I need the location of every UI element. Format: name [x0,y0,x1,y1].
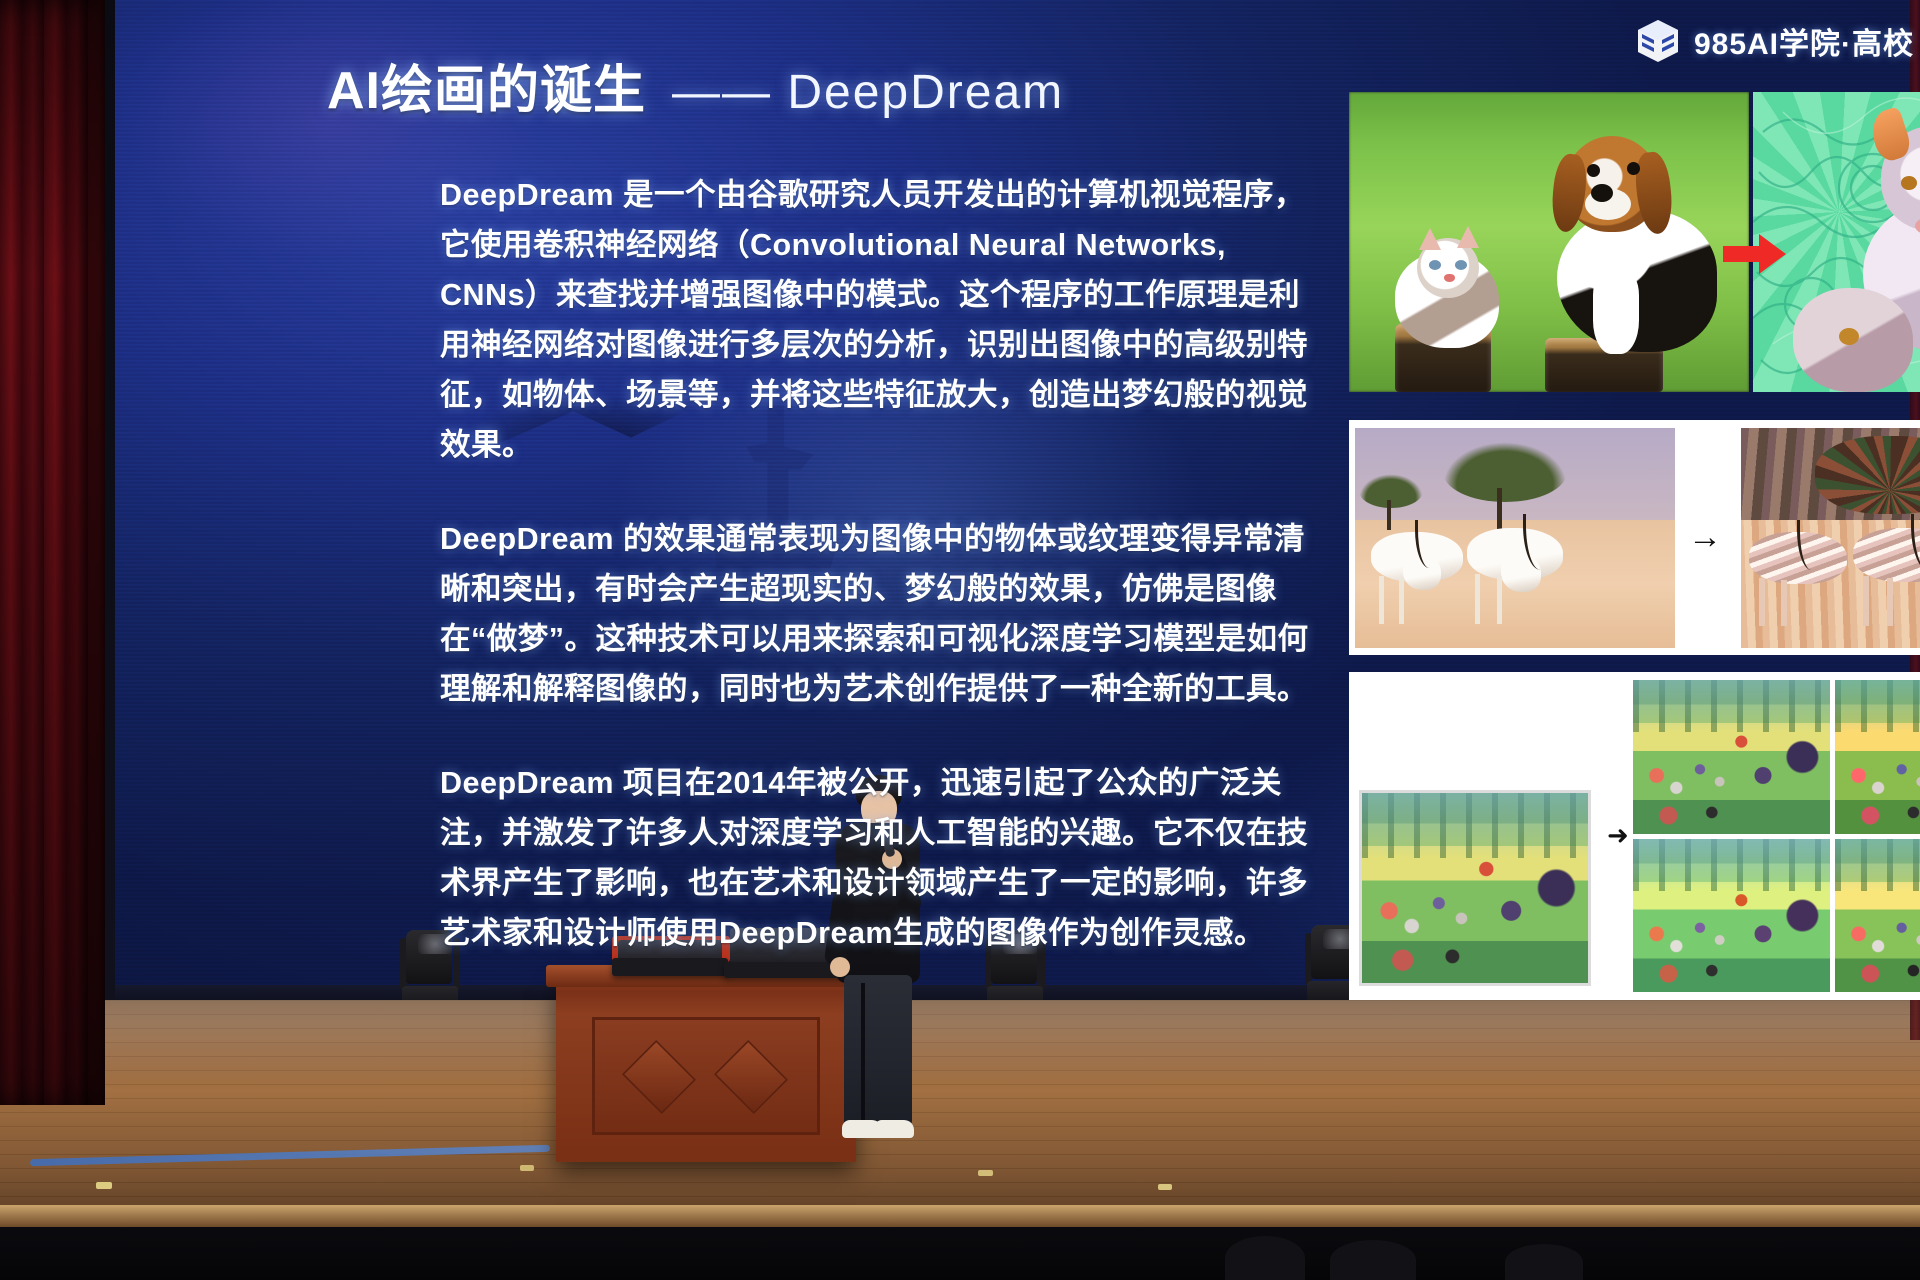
audience-head-1 [1225,1236,1305,1280]
brand-logo: 985AI学院·高校 [1636,18,1914,64]
dream-addax-leg-b [1781,580,1787,626]
confetti-4 [1158,1184,1172,1190]
seurat-variation-2 [1835,680,1920,834]
slide-body: DeepDream 是一个由谷歌研究人员开发出的计算机视觉程序，它使用卷积神经网… [440,170,1330,1000]
dream-dog-eye-left [1901,176,1917,190]
example-row-pets [1349,92,1920,392]
confetti-2 [520,1165,534,1171]
dream-acacia-canopy [1815,436,1920,514]
addax-leg-a [1379,576,1384,624]
seurat-source-painting [1359,790,1591,986]
brand-logo-text: 985AI学院·高校 [1694,19,1914,63]
beagle-eye-left [1587,164,1600,177]
podium-diamond-right [714,1040,788,1114]
presenter-leg-gap [861,983,865,1121]
dream-addax-leg-c [1863,576,1869,626]
cube-logo-icon [1636,18,1680,64]
slide-title-cn: AI绘画的诞生 [327,48,646,123]
dream-addax-leg-d [1887,578,1893,626]
antelope-deepdream-photo [1741,428,1920,648]
slide-paragraph-3: DeepDream 项目在2014年被公开，迅速引起了公众的广泛关注，并激发了许… [440,758,1330,958]
confetti-3 [978,1170,993,1176]
acacia-tree-small-trunk [1387,500,1391,530]
example-row-antelopes: → [1349,420,1920,655]
kitten-eye-left [1429,260,1441,270]
slide-paragraph-2: DeepDream 的效果通常表现为图像中的物体或纹理变得异常清晰和突出，有时会… [440,514,1330,714]
seurat-variation-3 [1633,839,1830,993]
audience-pit [0,1227,1920,1280]
audience-head-3 [1505,1244,1583,1280]
addax-leg-c [1475,574,1480,624]
acacia-tree-trunk [1497,488,1502,530]
led-presentation-screen: 985AI学院·高校 AI绘画的诞生 —— DeepDream DeepDrea… [115,0,1920,1000]
seurat-deepdream-grid [1633,680,1920,992]
example-row-seurat: ➜ [1349,672,1920,1000]
kitten-nose [1444,274,1455,282]
audience-head-2 [1330,1240,1416,1280]
slide-title: AI绘画的诞生 —— DeepDream [327,48,1064,123]
stage-curtain-left [0,0,105,1105]
acacia-tree-canopy [1443,442,1567,502]
red-arrow-icon [1723,232,1787,276]
acacia-tree-small [1359,474,1423,508]
antelope-source-photo [1355,428,1675,648]
seurat-variation-1 [1633,680,1830,834]
addax-leg-b [1399,578,1404,624]
addax-leg-d [1497,576,1502,624]
dream-addax-leg-a [1759,578,1765,626]
stage-front-edge [0,1205,1920,1227]
slide-paragraph-1: DeepDream 是一个由谷歌研究人员开发出的计算机视觉程序，它使用卷积神经网… [440,170,1330,470]
beagle-nose [1591,184,1613,202]
podium-diamond-left [622,1040,696,1114]
wooden-podium [556,977,856,1162]
stage-floor [0,1000,1920,1215]
slide-title-en: —— DeepDream [672,65,1064,120]
slide-example-panel: → ➜ [1345,0,1920,1000]
stage-photograph: 985AI学院·高校 AI绘画的诞生 —— DeepDream DeepDrea… [0,0,1920,1280]
antelope-arrow-icon: → [1675,518,1735,557]
podium-front-panel [592,1017,820,1135]
pets-source-photo [1349,92,1749,392]
presenter-shoe-right [874,1120,914,1138]
floor-reflection [0,1000,1920,1215]
kitten-eye-right [1455,260,1467,270]
seurat-variation-4 [1835,839,1920,993]
seurat-arrow-icon: ➜ [1607,820,1629,851]
beagle-front-leg [1593,270,1639,354]
confetti-1 [96,1182,112,1189]
beagle-eye-right [1627,162,1640,175]
dream-cat-eye [1839,328,1859,345]
